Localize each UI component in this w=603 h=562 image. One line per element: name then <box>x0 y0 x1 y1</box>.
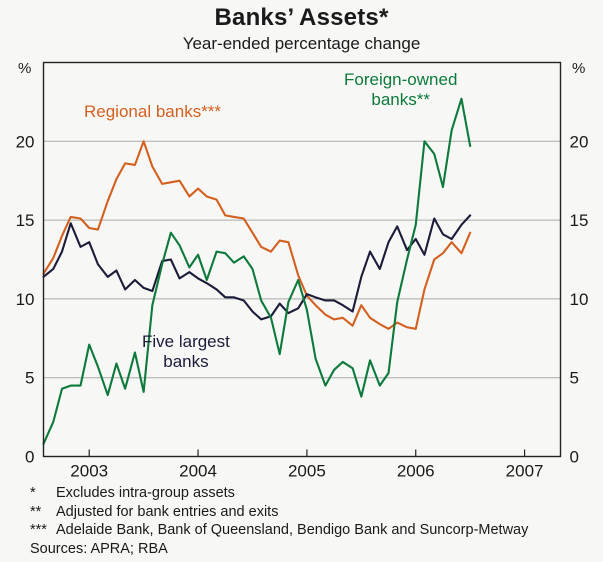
footnote-1-text: Excludes intra-group assets <box>56 485 235 501</box>
ytick-label-left-5: 5 <box>25 369 34 388</box>
chart-plot-area: 200320042005200620070055101015152020 <box>0 0 603 562</box>
ytick-label-left-15: 15 <box>16 211 35 230</box>
series-label-five-line2: banks <box>142 352 230 372</box>
ytick-label-left-10: 10 <box>16 290 35 309</box>
xtick-label-2007: 2007 <box>506 462 544 481</box>
ytick-label-right-0: 0 <box>570 448 579 467</box>
sources-line: Sources: APRA; RBA <box>30 540 600 559</box>
series-label-foreign-line2: banks** <box>344 90 457 110</box>
series-label-regional-banks: Regional banks*** <box>84 102 221 122</box>
footnote-2-text: Adjusted for bank entries and exits <box>56 504 278 520</box>
footnote-1: *Excludes intra-group assets <box>30 484 600 503</box>
ytick-label-right-10: 10 <box>570 290 589 309</box>
ytick-label-left-0: 0 <box>25 448 34 467</box>
chart-figure: Banks’ Assets* Year-ended percentage cha… <box>0 0 603 562</box>
xtick-label-2006: 2006 <box>397 462 435 481</box>
ytick-label-left-20: 20 <box>16 132 35 151</box>
series-label-five-line1: Five largest <box>142 332 230 352</box>
footnotes: *Excludes intra-group assets **Adjusted … <box>30 484 600 558</box>
xtick-label-2004: 2004 <box>179 462 217 481</box>
series-label-foreign-line1: Foreign-owned <box>344 70 457 90</box>
footnote-3: ***Adelaide Bank, Bank of Queensland, Be… <box>30 521 600 540</box>
series-label-foreign-owned-banks: Foreign-owned banks** <box>344 70 457 110</box>
footnote-2-mark: ** <box>30 503 56 522</box>
footnote-2: **Adjusted for bank entries and exits <box>30 503 600 522</box>
xtick-label-2005: 2005 <box>288 462 326 481</box>
ytick-label-right-20: 20 <box>570 132 589 151</box>
footnote-3-text: Adelaide Bank, Bank of Queensland, Bendi… <box>56 522 528 538</box>
ytick-label-right-5: 5 <box>570 369 579 388</box>
footnote-1-mark: * <box>30 484 56 503</box>
series-label-five-largest-banks: Five largest banks <box>142 332 230 372</box>
xtick-label-2003: 2003 <box>70 462 108 481</box>
ytick-label-right-15: 15 <box>570 211 589 230</box>
footnote-3-mark: *** <box>30 521 56 540</box>
